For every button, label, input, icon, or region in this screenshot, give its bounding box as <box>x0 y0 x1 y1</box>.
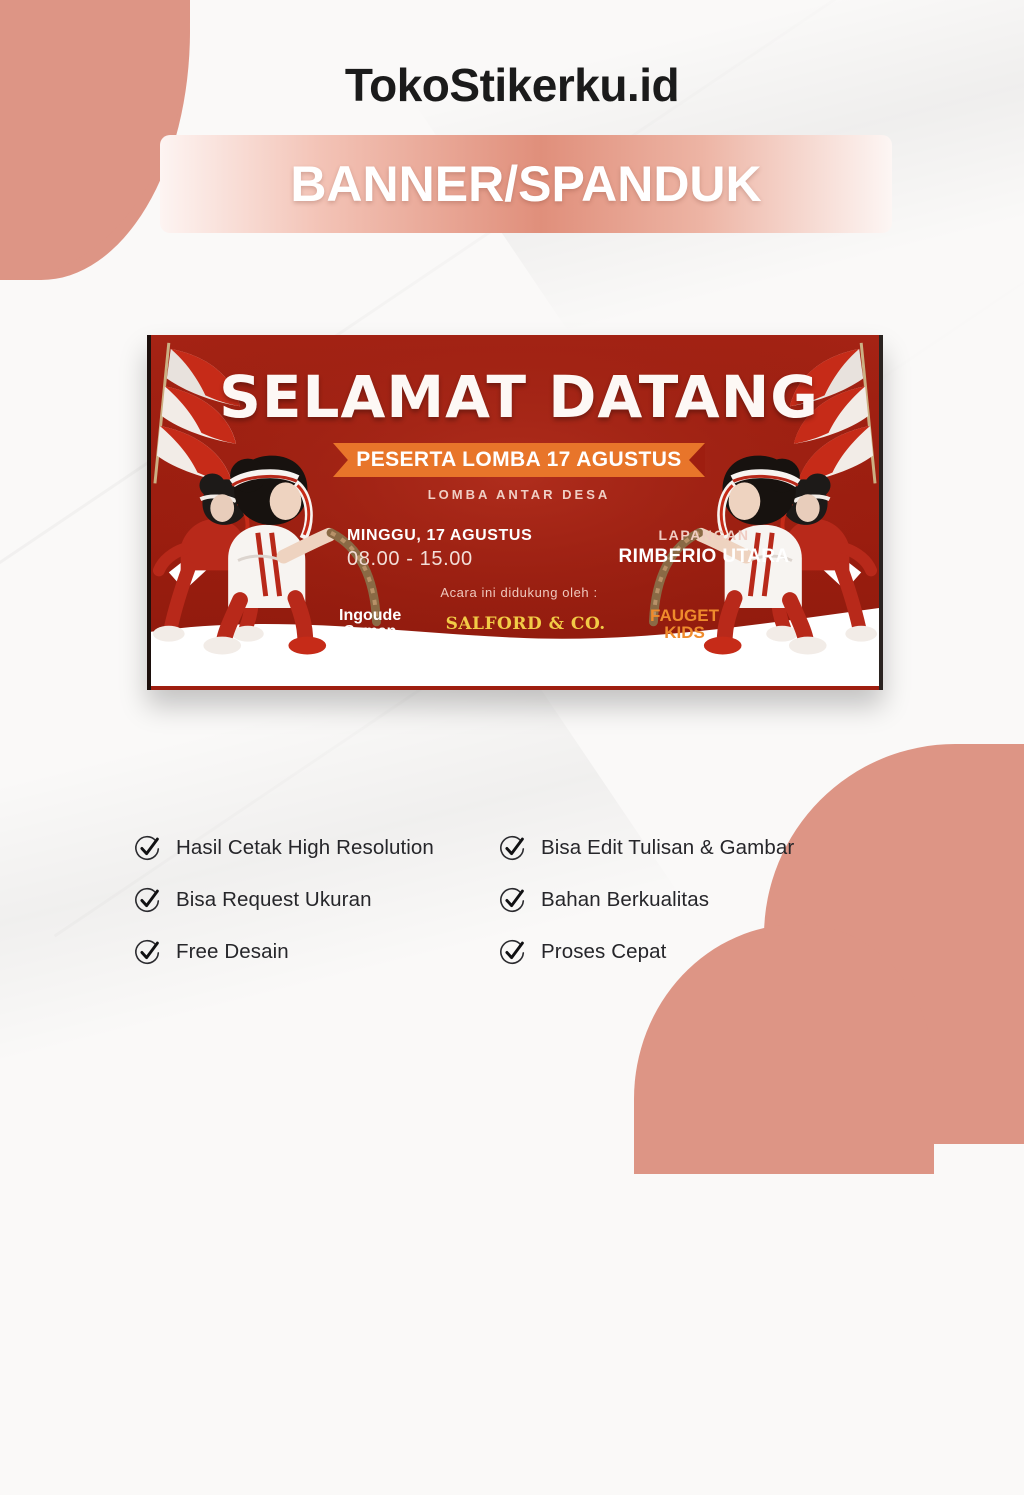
feature-item-bisa-edit-tulisan-gambar: Bisa Edit Tulisan & Gambar <box>498 833 858 863</box>
check-circle-icon <box>498 937 528 967</box>
check-circle-icon <box>498 885 528 915</box>
check-circle-icon <box>133 937 163 967</box>
feature-label: Hasil Cetak High Resolution <box>176 836 434 860</box>
banner-sponsor-intro: Acara ini didukung oleh : <box>151 585 883 600</box>
banner-venue-name: RIMBERIO UTARA <box>589 546 819 568</box>
banner-venue-block: LAPANGAN RIMBERIO UTARA <box>589 527 819 568</box>
sponsor-logo-salford-co: SALFORD & CO. <box>446 616 606 633</box>
sponsor-logo-ingoude-semen: Ingoude Semen <box>339 608 401 641</box>
banner-date-block: MINGGU, 17 AGUSTUS 08.00 - 15.00 <box>347 527 532 571</box>
sponsor-line-1: SALFORD & CO. <box>446 616 606 633</box>
feature-label: Proses Cepat <box>541 940 666 964</box>
check-circle-icon <box>498 833 528 863</box>
banner-subtitle: LOMBA ANTAR DESA <box>151 487 883 502</box>
check-circle-icon <box>133 833 163 863</box>
feature-label: Bisa Request Ukuran <box>176 888 372 912</box>
category-banner: BANNER/SPANDUK <box>160 135 892 233</box>
product-listing-card: TokoStikerku.id BANNER/SPANDUK <box>0 0 1024 1024</box>
banner-venue-prefix: LAPANGAN <box>589 527 819 543</box>
banner-preview-image[interactable]: SELAMAT DATANG PESERTA LOMBA 17 AGUSTUS … <box>147 335 883 690</box>
feature-label: Free Desain <box>176 940 289 964</box>
feature-item-free-desain: Free Desain <box>133 937 498 967</box>
category-label: BANNER/SPANDUK <box>290 155 761 213</box>
sponsor-line-2: Semen <box>339 624 401 640</box>
banner-heading: SELAMAT DATANG <box>151 363 883 431</box>
sponsor-line-1: FAUGET <box>650 607 719 624</box>
ribbon-notch-icon <box>689 443 705 477</box>
sponsor-line-2: KIDS <box>650 624 719 641</box>
feature-label: Bahan Berkualitas <box>541 888 709 912</box>
banner-date: MINGGU, 17 AGUSTUS <box>347 527 532 545</box>
brand-title: TokoStikerku.id <box>0 58 1024 112</box>
feature-item-bisa-request-ukuran: Bisa Request Ukuran <box>133 885 498 915</box>
feature-item-bahan-berkualitas: Bahan Berkualitas <box>498 885 858 915</box>
banner-ribbon-label: PESERTA LOMBA 17 AGUSTUS <box>356 448 681 472</box>
check-circle-icon <box>133 885 163 915</box>
banner-ribbon: PESERTA LOMBA 17 AGUSTUS <box>333 443 705 477</box>
banner-sponsor-row: Ingoude Semen SALFORD & CO. FAUGET KIDS <box>339 607 719 642</box>
sponsor-line-1: Ingoude <box>339 608 401 624</box>
feature-label: Bisa Edit Tulisan & Gambar <box>541 836 794 860</box>
feature-list: Hasil Cetak High Resolution Bisa Edit Tu… <box>133 833 893 967</box>
banner-time: 08.00 - 15.00 <box>347 548 532 571</box>
feature-item-hasil-cetak-high-resolution: Hasil Cetak High Resolution <box>133 833 498 863</box>
feature-item-proses-cepat: Proses Cepat <box>498 937 858 967</box>
sponsor-logo-fauget-kids: FAUGET KIDS <box>650 607 719 642</box>
